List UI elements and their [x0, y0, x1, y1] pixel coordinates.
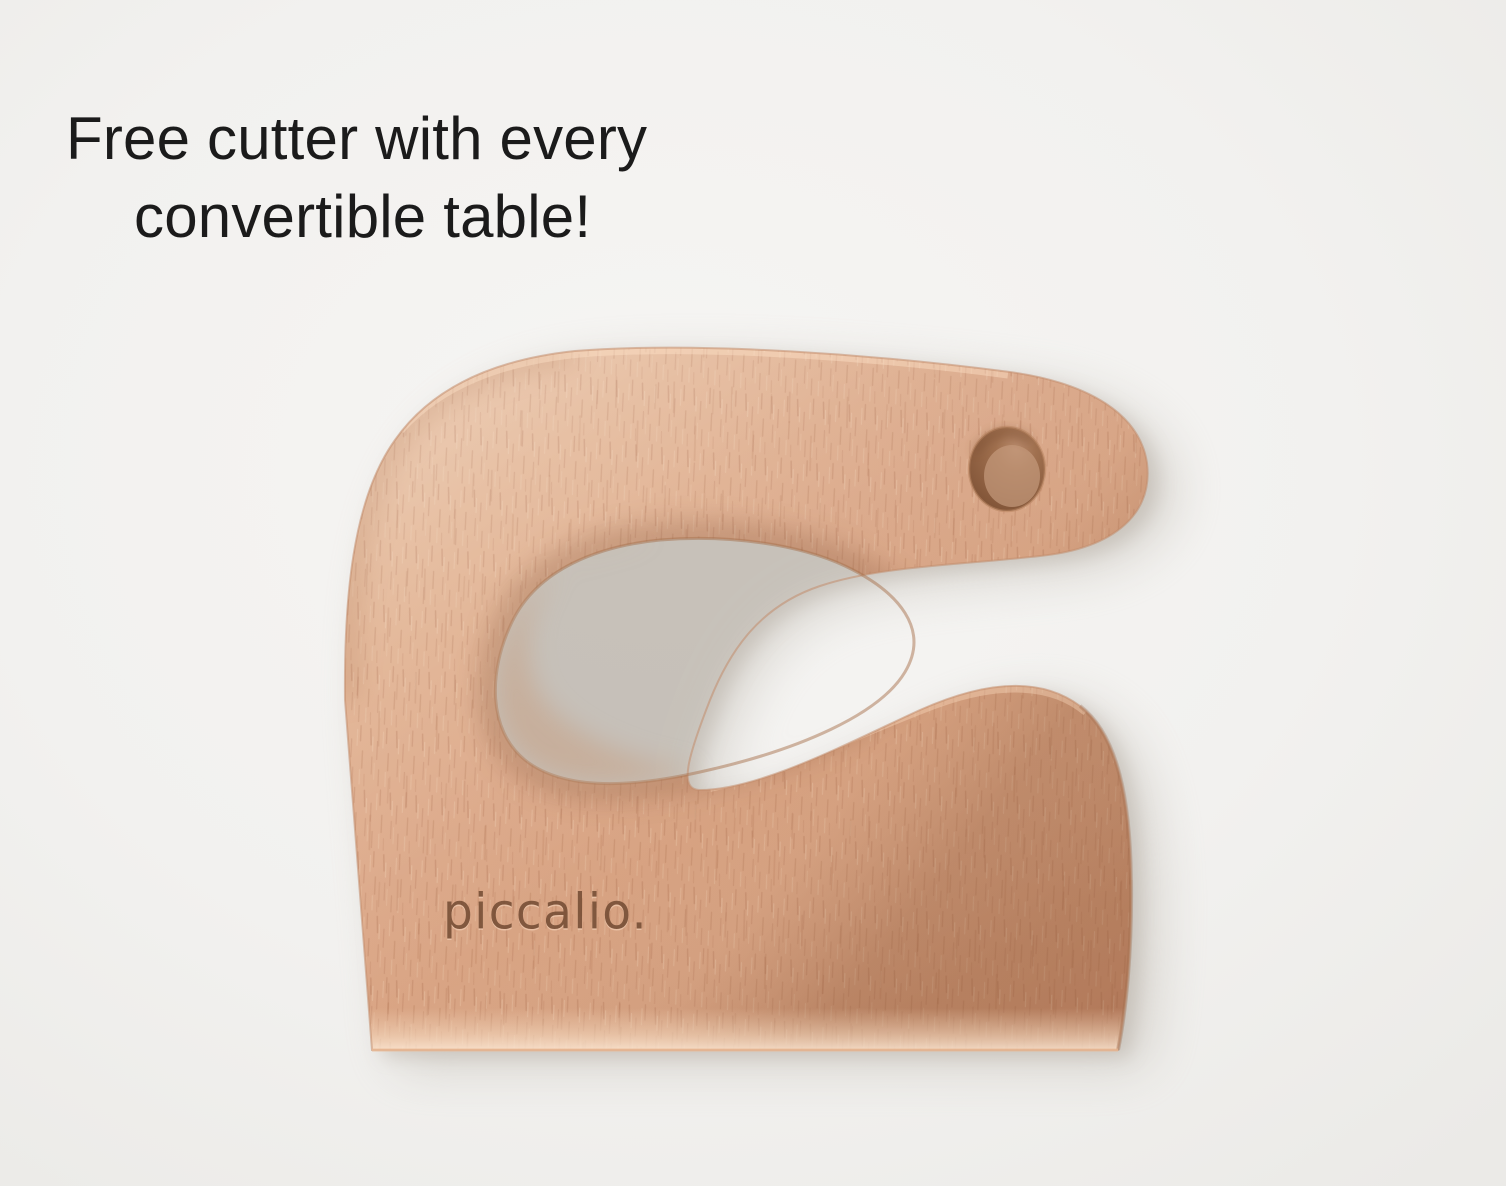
hang-hole [969, 427, 1045, 511]
headline-line-2: convertible table! [66, 178, 766, 256]
promo-image: Free cutter with every convertible table… [0, 0, 1506, 1186]
cutter-body [300, 320, 1200, 1080]
page-title: Free cutter with every convertible table… [66, 100, 766, 256]
headline-line-1: Free cutter with every [66, 100, 766, 178]
